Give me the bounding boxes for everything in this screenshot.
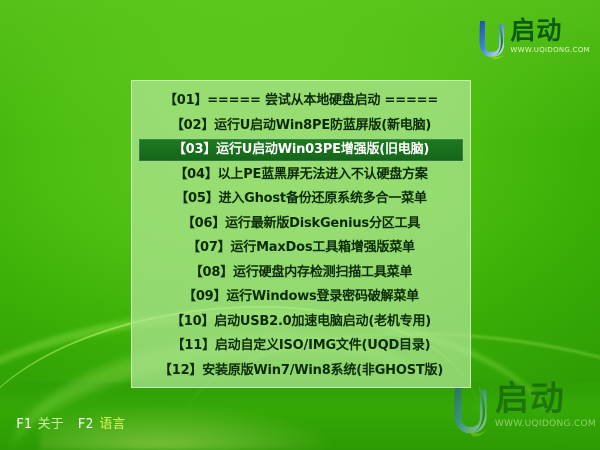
menu-item-01[interactable]: 【01】===== 尝试从本地硬盘启动 ===== [138,89,464,113]
brand-name-cn: 启动 [495,382,596,416]
brand-name-cn: 启动 [510,18,590,43]
menu-item-07[interactable]: 【07】运行MaxDos工具箱增强版菜单 [138,236,464,260]
menu-item-11[interactable]: 【11】启动自定义ISO/IMG文件(UQD目录) [138,334,464,358]
boot-menu-list: 【01】===== 尝试从本地硬盘启动 ===== 【02】运行U启动Win8P… [132,89,470,383]
about-action[interactable]: 关于 [38,413,64,432]
brand-wordmark: 启动 WWW.UQIDONG.COM [495,382,596,429]
brand-logo-watermark: 启动 WWW.UQIDONG.COM [449,382,596,444]
brand-url: WWW.UQIDONG.COM [495,420,596,429]
menu-item-10[interactable]: 【10】启动USB2.0加速电脑启动(老机专用) [138,310,464,334]
boot-menu-panel: 【01】===== 尝试从本地硬盘启动 ===== 【02】运行U启动Win8P… [131,80,471,388]
u-logo-icon [449,382,495,444]
menu-item-09[interactable]: 【09】运行Windows登录密码破解菜单 [138,285,464,309]
boot-menu-screen: 启动 WWW.UQIDONG.COM [0,0,600,450]
menu-item-04[interactable]: 【04】以上PE蓝黑屏无法进入不认硬盘方案 [138,163,464,187]
menu-item-03[interactable]: 【03】运行U启动Win03PE增强版(旧电脑) [138,138,464,162]
menu-item-12[interactable]: 【12】安装原版Win7/Win8系统(非GHOST版) [138,359,464,383]
menu-item-02[interactable]: 【02】运行U启动Win8PE防蓝屏版(新电脑) [138,114,464,138]
u-logo-icon [476,18,510,66]
lang-action[interactable]: 语言 [99,413,125,432]
about-key-label: F1 [16,417,32,432]
lang-key-label: F2 [78,417,94,432]
menu-item-05[interactable]: 【05】进入Ghost备份还原系统多合一菜单 [138,187,464,211]
footer-key-hints: F1 关于 F2 语言 [16,413,125,432]
brand-logo-top: 启动 WWW.UQIDONG.COM [476,18,590,66]
brand-url: WWW.UQIDONG.COM [510,47,590,54]
menu-item-06[interactable]: 【06】运行最新版DiskGenius分区工具 [138,212,464,236]
menu-item-08[interactable]: 【08】运行硬盘内存检测扫描工具菜单 [138,261,464,285]
brand-wordmark: 启动 WWW.UQIDONG.COM [510,18,590,54]
